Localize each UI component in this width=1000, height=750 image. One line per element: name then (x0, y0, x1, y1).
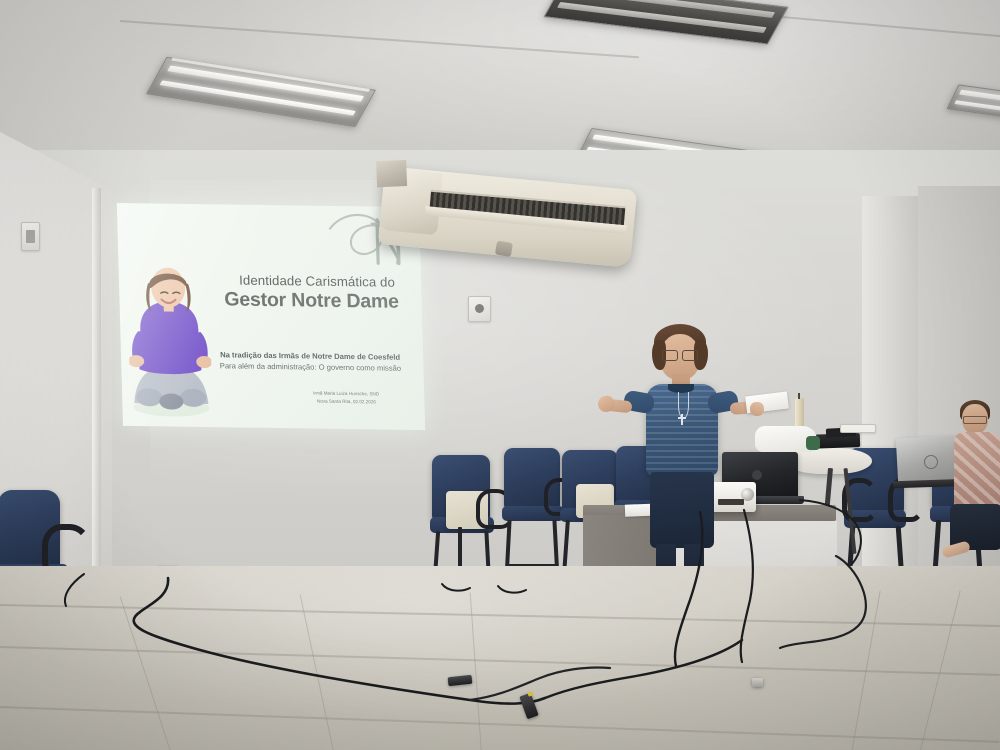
cable-connector (752, 678, 763, 687)
floor-power-cable (0, 0, 1000, 750)
cable-paths (0, 0, 1000, 750)
presentation-room-photo: Identidade Carismática do Gestor Notre D… (0, 0, 1000, 750)
